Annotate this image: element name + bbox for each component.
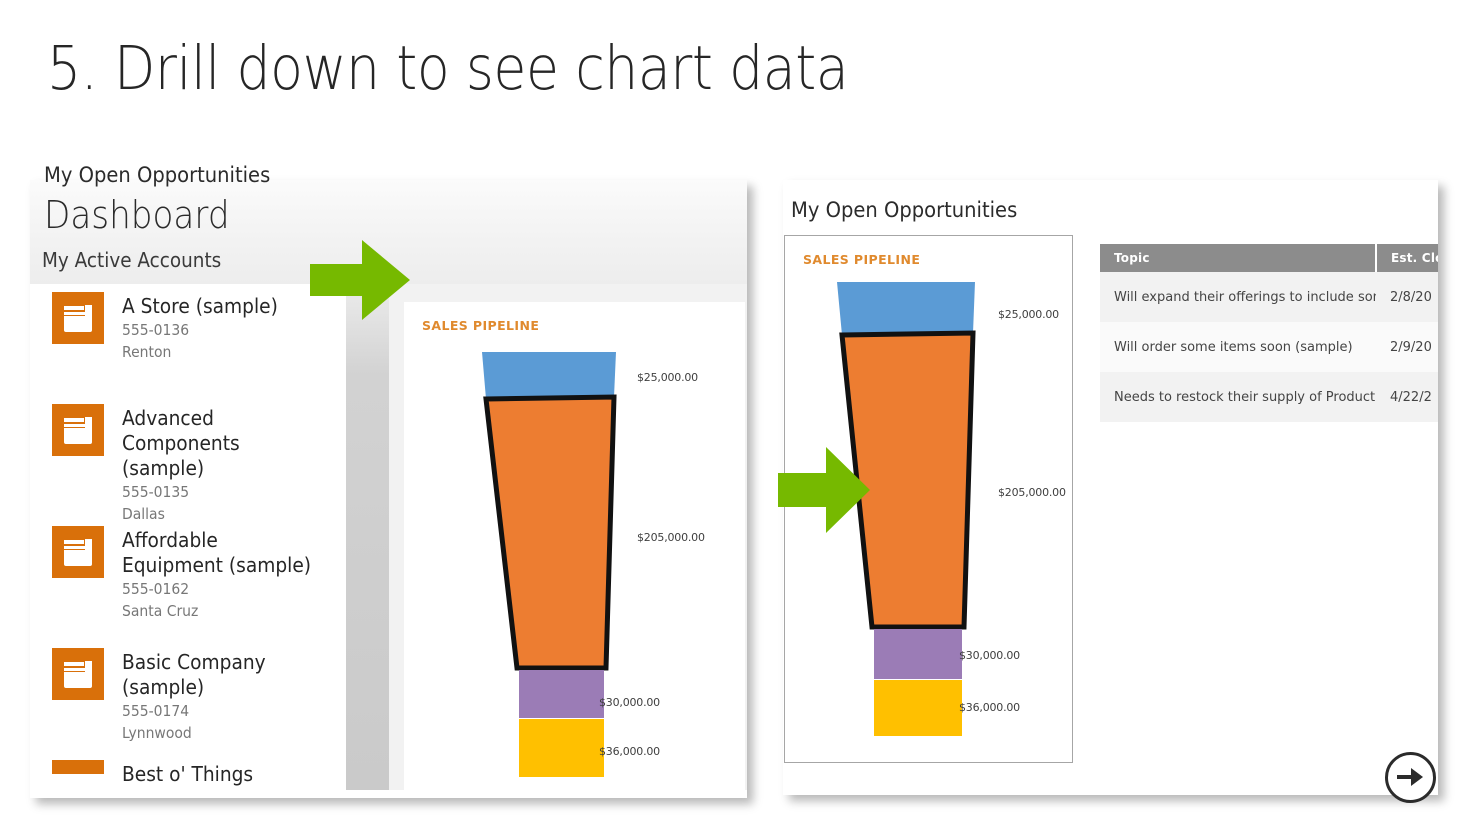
funnel-value-label-yellow: $36,000.00 [959, 701, 1020, 714]
cell-est-close: 2/8/20 [1376, 272, 1438, 322]
left-chart-heading: My Open Opportunities [44, 163, 270, 187]
list-item[interactable]: Advanced Components (sample) 555-0135 Da… [30, 404, 346, 525]
funnel-value-label-yellow: $36,000.00 [599, 745, 660, 758]
opportunities-table[interactable]: Topic Est. Clo Will expand their offerin… [1100, 244, 1438, 422]
column-header-est-close[interactable]: Est. Clo [1376, 244, 1438, 272]
funnel-value-label-purple: $30,000.00 [599, 696, 660, 709]
left-sales-pipeline-card[interactable]: SALES PIPELINE $25,000.00 $205,000.00 $3… [404, 302, 745, 790]
table-row[interactable]: Will order some items soon (sample) 2/9/… [1100, 322, 1438, 372]
account-folder-icon [52, 526, 104, 578]
list-item[interactable]: A Store (sample) 555-0136 Renton [30, 292, 346, 363]
funnel-segment-purple [519, 670, 604, 718]
funnel-chart[interactable] [474, 347, 674, 777]
account-name: A Store (sample) [122, 294, 278, 319]
account-city: Santa Cruz [122, 600, 322, 622]
account-phone: 555-0135 [122, 481, 322, 503]
page-title: 5. Drill down to see chart data [47, 33, 848, 105]
funnel-value-label-orange: $205,000.00 [998, 486, 1066, 499]
funnel-segment-blue [482, 352, 616, 399]
green-arrow-to-chart [310, 240, 410, 325]
list-item[interactable]: Basic Company (sample) 555-0174 Lynnwood [30, 648, 346, 744]
table-row[interactable]: Will expand their offerings to include s… [1100, 272, 1438, 322]
table-header-row: Topic Est. Clo [1100, 244, 1438, 272]
arrow-right-icon [1396, 764, 1424, 790]
funnel-segment-yellow [519, 719, 604, 777]
funnel-segment-blue [837, 282, 975, 335]
account-folder-icon [52, 760, 104, 774]
account-city: Lynnwood [122, 722, 322, 744]
account-city: Dallas [122, 503, 322, 525]
cell-topic: Will expand their offerings to include s… [1100, 272, 1376, 322]
my-active-accounts-list[interactable]: A Store (sample) 555-0136 Renton Advance… [30, 284, 346, 790]
right-screenshot-panel: My Open Opportunities SALES PIPELINE $25… [783, 180, 1438, 795]
chart-card-title: SALES PIPELINE [803, 252, 920, 267]
funnel-value-label-blue: $25,000.00 [637, 371, 698, 384]
funnel-segment-yellow [874, 680, 962, 736]
account-phone: 555-0136 [122, 319, 278, 341]
cell-topic: Will order some items soon (sample) [1100, 322, 1376, 372]
account-folder-icon [52, 404, 104, 456]
account-folder-icon [52, 648, 104, 700]
funnel-segment-orange [486, 397, 614, 668]
funnel-value-label-purple: $30,000.00 [959, 649, 1020, 662]
cell-est-close: 2/9/20 [1376, 322, 1438, 372]
chart-card-title: SALES PIPELINE [422, 318, 539, 333]
cell-topic: Needs to restock their supply of Product… [1100, 372, 1376, 422]
account-name: Best o' Things (sample) [122, 762, 322, 790]
list-item[interactable]: Best o' Things (sample) [30, 760, 346, 790]
account-name: Affordable Equipment (sample) [122, 528, 322, 578]
green-arrow-to-funnel-segment [778, 447, 870, 538]
account-name: Advanced Components (sample) [122, 406, 322, 481]
my-active-accounts-header: My Active Accounts [42, 248, 221, 272]
dashboard-title: Dashboard [44, 192, 230, 238]
funnel-segment-purple [874, 629, 962, 679]
right-chart-heading: My Open Opportunities [791, 198, 1017, 222]
next-arrow-button[interactable] [1385, 752, 1436, 803]
table-row[interactable]: Needs to restock their supply of Product… [1100, 372, 1438, 422]
account-name: Basic Company (sample) [122, 650, 322, 700]
funnel-value-label-orange: $205,000.00 [637, 531, 705, 544]
list-item[interactable]: Affordable Equipment (sample) 555-0162 S… [30, 526, 346, 622]
column-header-topic[interactable]: Topic [1100, 244, 1376, 272]
funnel-value-label-blue: $25,000.00 [998, 308, 1059, 321]
cell-est-close: 4/22/2 [1376, 372, 1438, 422]
account-folder-icon [52, 292, 104, 344]
account-city: Renton [122, 341, 278, 363]
left-panel-scroll-gutter[interactable] [346, 284, 389, 790]
funnel-chart-svg [474, 347, 674, 777]
account-phone: 555-0162 [122, 578, 322, 600]
account-phone: 555-0174 [122, 700, 322, 722]
